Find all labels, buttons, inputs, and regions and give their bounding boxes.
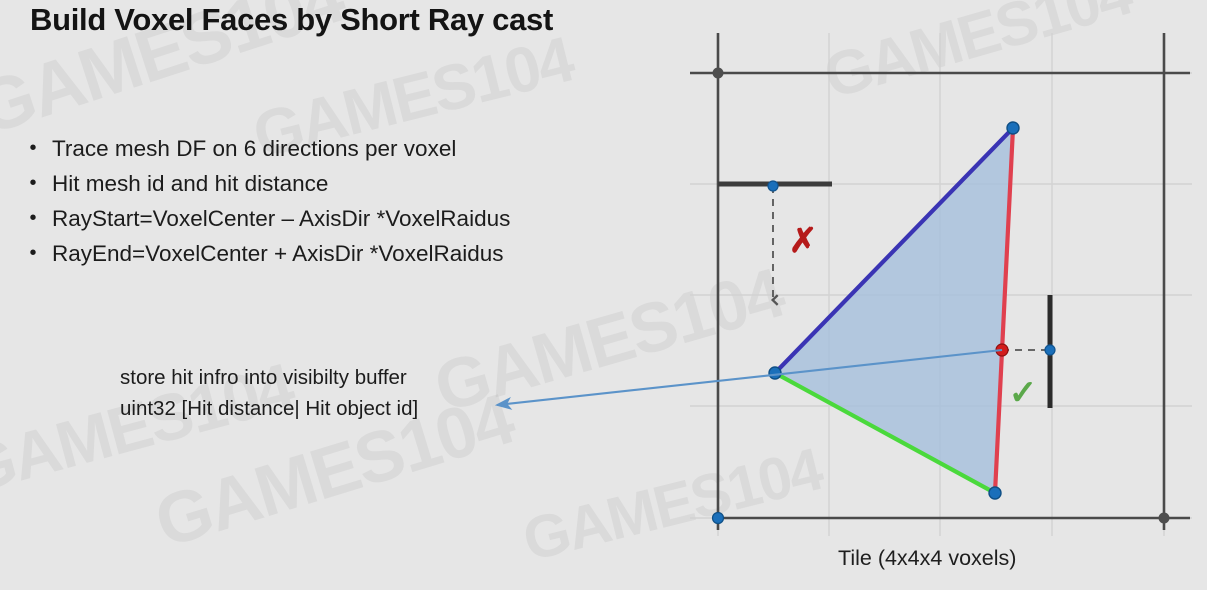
page-title: Build Voxel Faces by Short Ray cast <box>30 2 553 38</box>
diagram-caption: Tile (4x4x4 voxels) <box>838 546 1016 571</box>
list-item-label: Hit mesh id and hit distance <box>52 171 328 198</box>
tile-corner-bottom-right <box>1159 513 1170 524</box>
visibility-buffer-annotation: store hit infro into visibilty buffer ui… <box>120 362 418 424</box>
annotation-line-2: uint32 [Hit distance| Hit object id] <box>120 393 418 424</box>
triangle-vertex-1 <box>1007 122 1019 134</box>
triangle-vertex-0 <box>769 367 781 379</box>
bullet-marker-icon: • <box>14 136 52 161</box>
triangle-vertex-2 <box>989 487 1001 499</box>
bullet-marker-icon: • <box>14 171 52 196</box>
bullet-marker-icon: • <box>14 241 52 266</box>
ray-start-point-miss <box>768 181 778 191</box>
tile-corner-top-left <box>713 68 724 79</box>
ray-start-point-hit <box>1045 345 1055 355</box>
tile-corner-bottom-left <box>713 513 724 524</box>
list-item-label: RayStart=VoxelCenter – AxisDir *VoxelRai… <box>52 206 510 233</box>
list-item-label: RayEnd=VoxelCenter + AxisDir *VoxelRaidu… <box>52 241 504 268</box>
slide-root: GAMES104GAMES104GAMES104GAMES104GAMES104… <box>0 0 1207 590</box>
bullet-marker-icon: • <box>14 206 52 231</box>
voxel-raycast-diagram: ✗✓ <box>480 20 1207 540</box>
no-hit-x-icon: ✗ <box>789 222 818 260</box>
annotation-line-1: store hit infro into visibilty buffer <box>120 362 418 393</box>
hit-check-icon: ✓ <box>1009 374 1038 412</box>
list-item-label: Trace mesh DF on 6 directions per voxel <box>52 136 456 163</box>
